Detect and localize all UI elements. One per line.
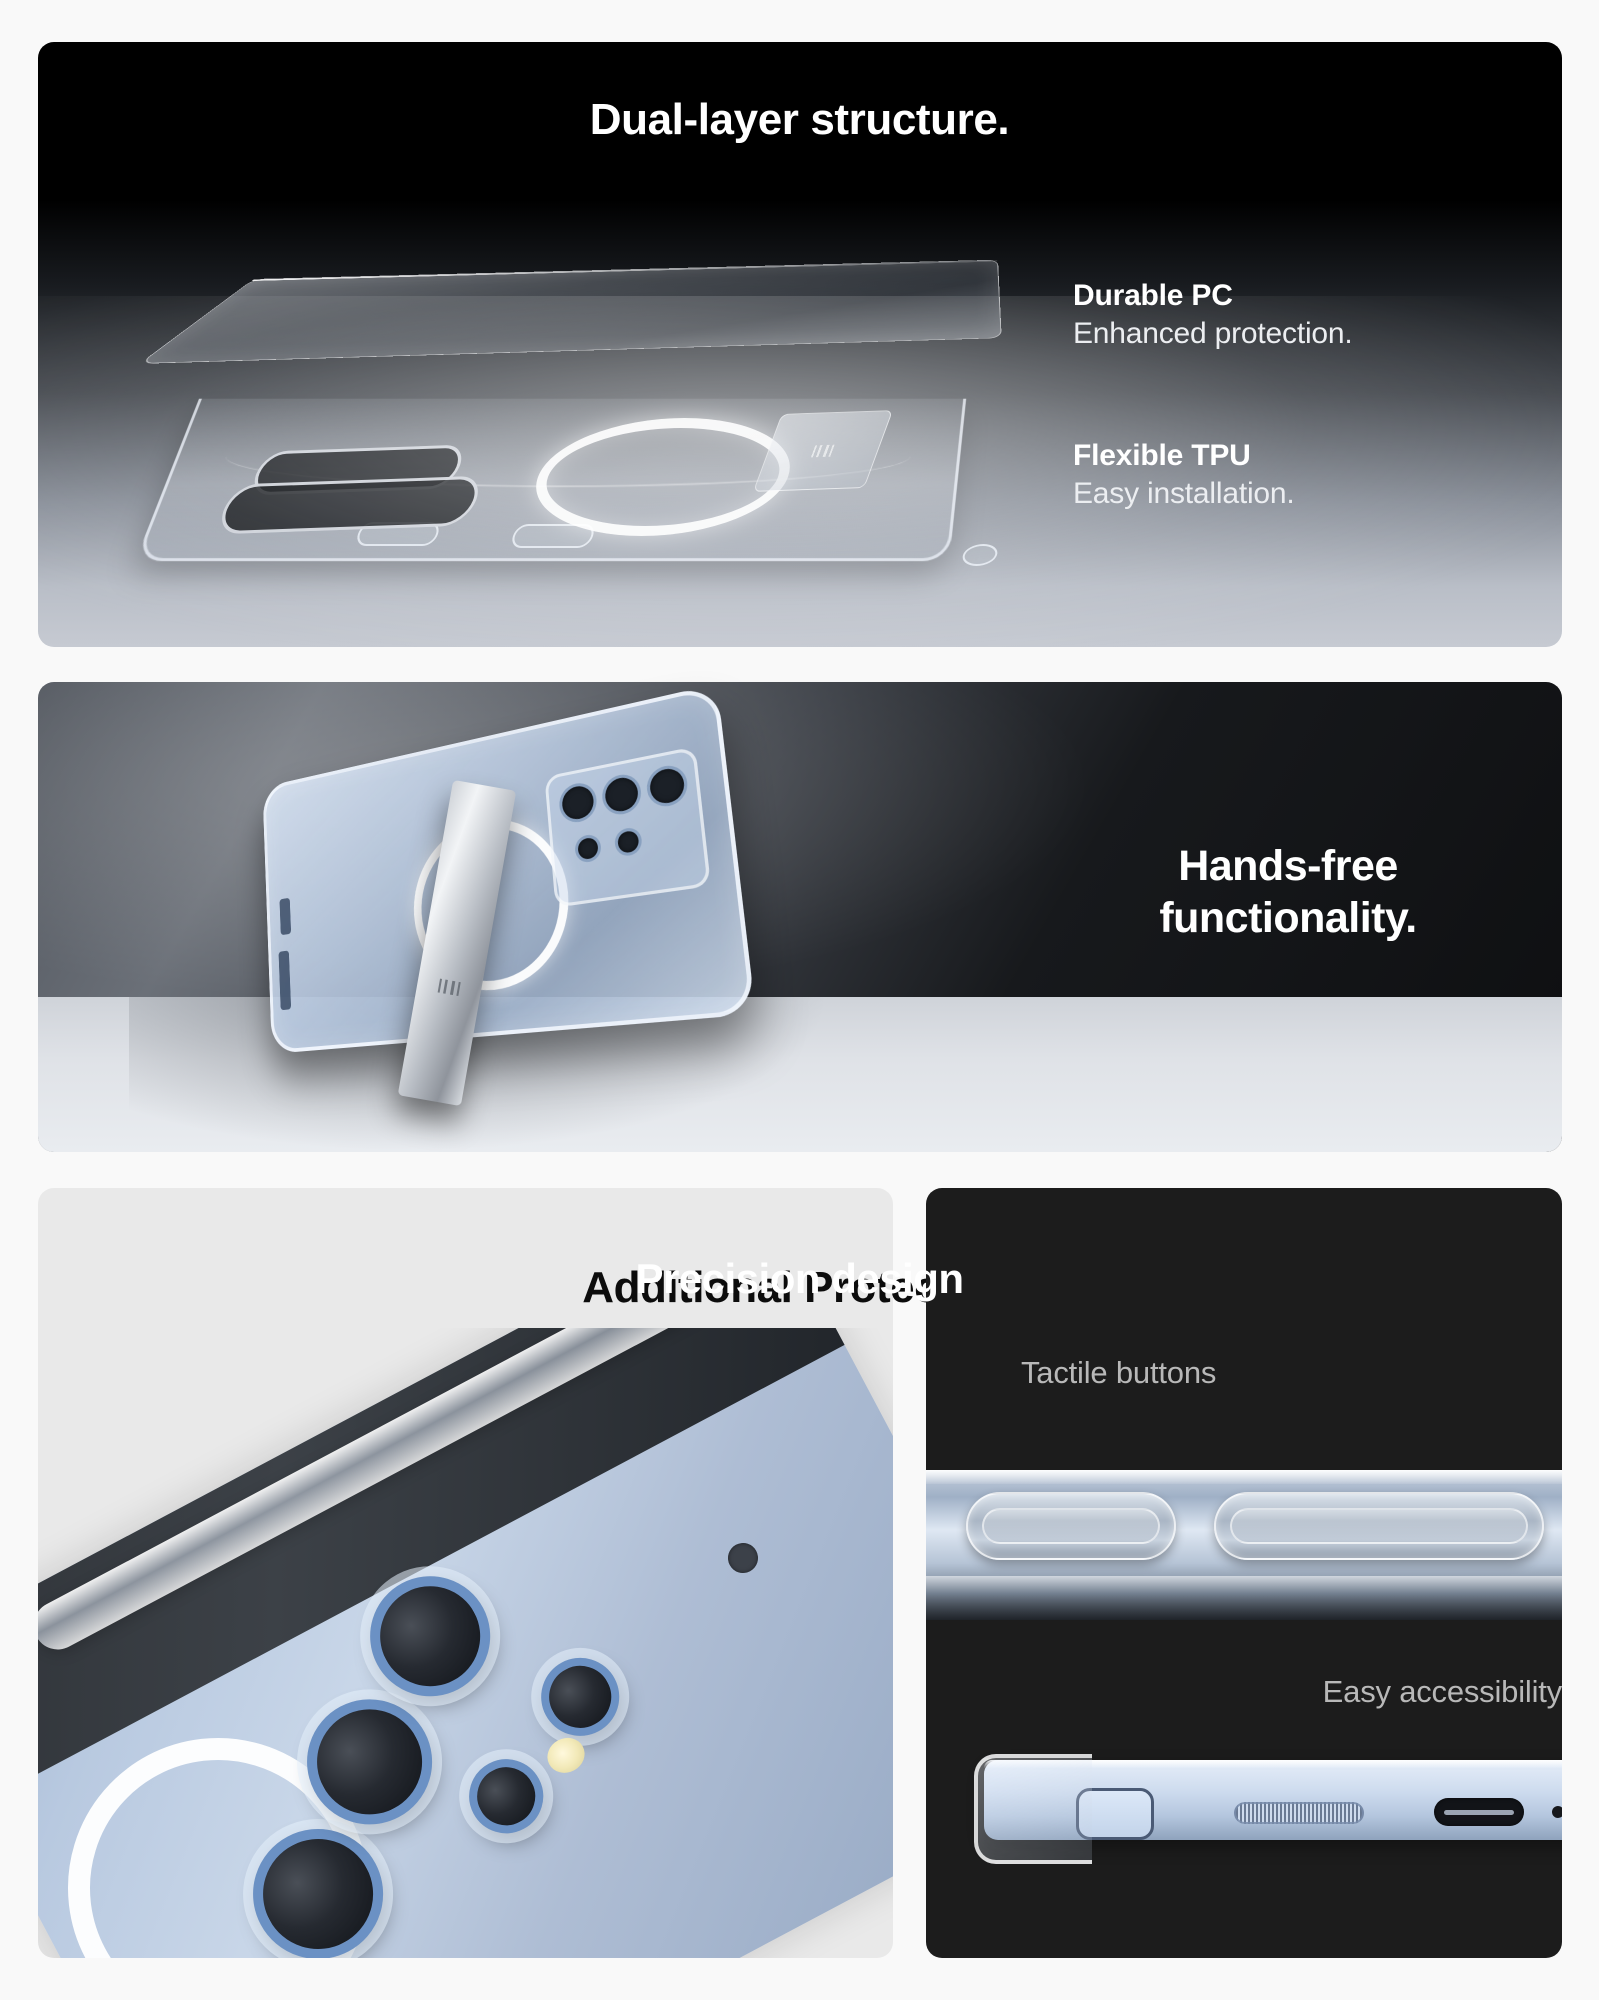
phone-with-clear-case-graphic — [262, 684, 755, 1054]
camera-lens-icon — [601, 771, 643, 817]
camera-protection-illustration — [38, 1328, 893, 1958]
side-button-icon — [279, 898, 291, 935]
heading-precision-design: Precision design — [0, 1255, 1599, 1303]
case-corner-graphic — [974, 1754, 1092, 1864]
tpu-port-cutout-icon — [959, 544, 1000, 566]
camera-lens-icon — [558, 780, 598, 825]
camera-lens-icon — [285, 1677, 454, 1846]
speaker-grille-icon — [1234, 1802, 1364, 1824]
product-feature-page: Dual-layer structure. Durable PC Enhance… — [0, 0, 1599, 2000]
spec-flexible-tpu-title: Flexible TPU — [1073, 437, 1295, 475]
spec-durable-pc-subtitle: Enhanced protection. — [1073, 315, 1353, 353]
spec-flexible-tpu: Flexible TPU Easy installation. — [1073, 437, 1295, 514]
brand-logo-icon — [810, 445, 837, 458]
hands-free-case-illustration — [175, 725, 815, 1125]
camera-lens-icon — [527, 1644, 632, 1749]
durable-pc-plate-graphic — [139, 260, 1002, 364]
case-edge-shadow — [926, 1576, 1562, 1620]
side-button-icon — [279, 950, 292, 1010]
camera-flash-icon — [541, 1731, 591, 1779]
tactile-volume-rocker-icon — [1214, 1492, 1544, 1560]
usb-c-port-icon — [1434, 1798, 1524, 1826]
spec-flexible-tpu-subtitle: Easy installation. — [1073, 475, 1295, 513]
easy-accessibility-photo — [926, 1746, 1562, 1958]
spec-durable-pc: Durable PC Enhanced protection. — [1073, 277, 1353, 354]
panel-precision-design — [926, 1188, 1562, 1958]
heading-hands-free-line2: functionality. — [1159, 894, 1416, 942]
microphone-hole-icon — [1552, 1806, 1562, 1818]
spec-durable-pc-title: Durable PC — [1073, 277, 1353, 315]
label-tactile-buttons: Tactile buttons — [1021, 1355, 1216, 1391]
heading-dual-layer-structure: Dual-layer structure. — [0, 95, 1599, 145]
tactile-power-button-icon — [966, 1492, 1176, 1560]
case-edge-highlight — [926, 1470, 1562, 1484]
brand-logo-icon — [436, 979, 462, 997]
camera-lens-icon — [574, 833, 602, 864]
camera-lens-icon — [456, 1746, 556, 1846]
heading-hands-free-line1: Hands-free — [1178, 842, 1398, 890]
camera-cutout-icon — [214, 476, 486, 535]
tactile-buttons-photo — [926, 1470, 1562, 1620]
camera-module-graphic — [544, 746, 711, 907]
camera-lens-icon — [645, 762, 689, 809]
label-easy-accessibility: Easy accessibility — [926, 1674, 1562, 1710]
heading-hands-free-functionality: Hands-free functionality. — [1053, 840, 1523, 945]
dual-layer-case-illustration — [108, 222, 1048, 612]
camera-lens-icon — [614, 826, 643, 858]
camera-lens-icon — [349, 1555, 511, 1717]
